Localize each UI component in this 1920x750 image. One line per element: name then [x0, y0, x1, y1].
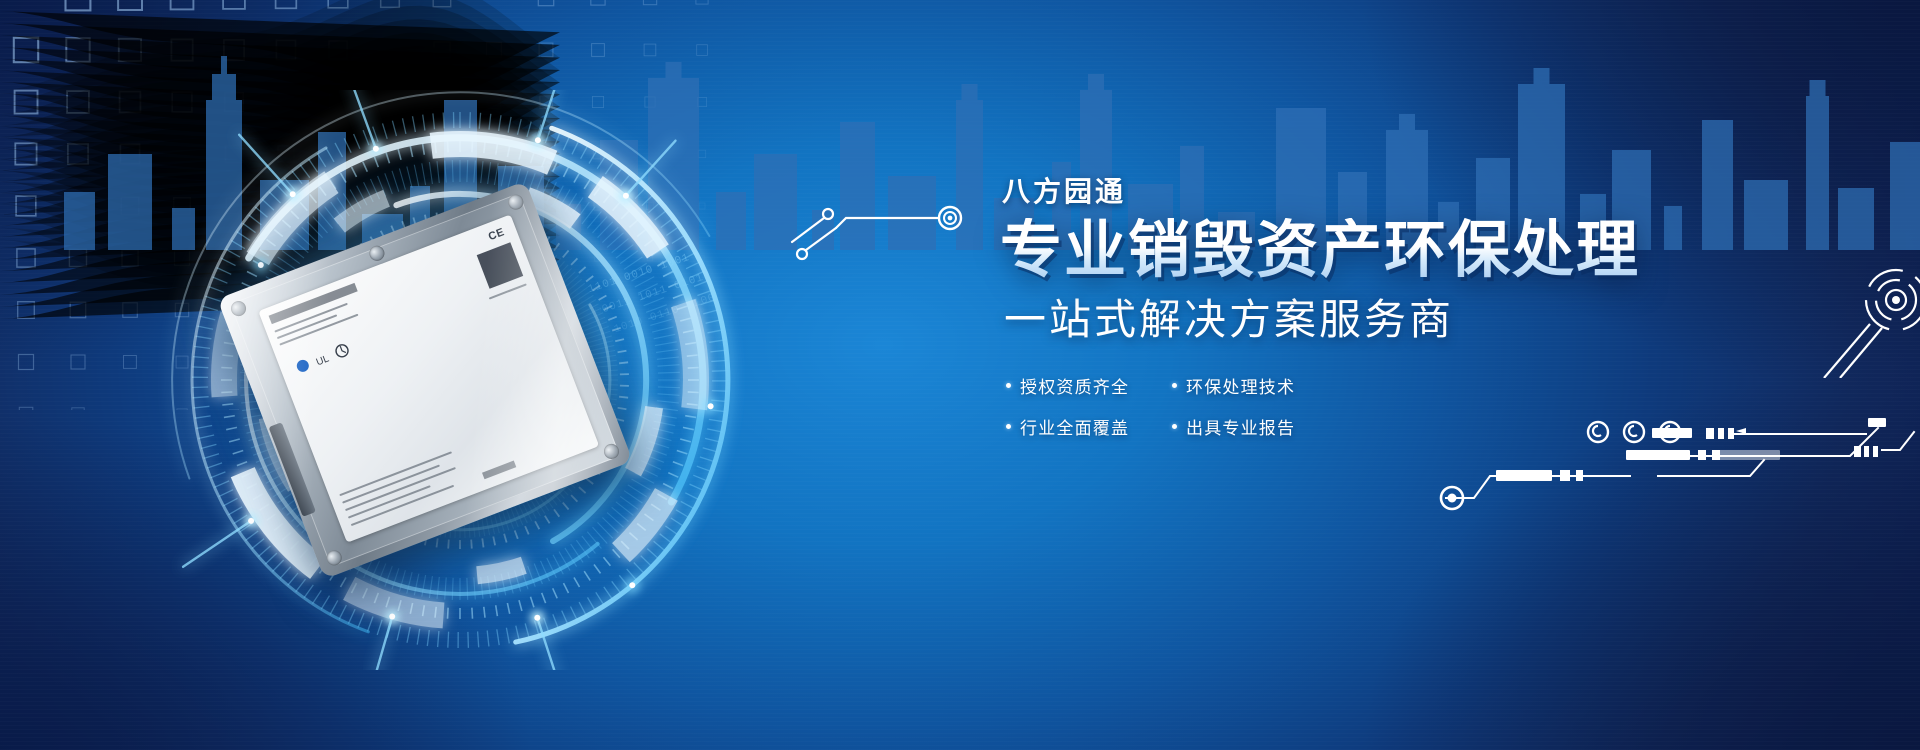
feature-label: 出具专业报告 [1186, 414, 1295, 439]
bullet-dot-icon [1172, 383, 1177, 388]
feature-label: 环保处理技术 [1186, 373, 1295, 398]
promo-banner: 0110 1001 00111001 0110 10100101 1100 01… [0, 0, 1920, 750]
bullet-dot-icon [1006, 424, 1011, 429]
circuit-corner-node [1784, 228, 1920, 378]
svg-text:UL: UL [315, 353, 331, 368]
feature-item: 行业全面覆盖 [1006, 414, 1154, 439]
node-dot-icon [823, 209, 833, 219]
feature-item: 出具专业报告 [1172, 414, 1332, 439]
feature-label: 行业全面覆盖 [1020, 414, 1129, 439]
hero-graphic: CE UL [150, 90, 770, 670]
target-ring-icon [939, 207, 961, 229]
feature-item: 环保处理技术 [1172, 373, 1332, 398]
copy-block: 八方园通 专业销毁资产环保处理 一站式解决方案服务商 授权资质齐全 环保处理技术… [1000, 178, 1760, 439]
feature-item: 授权资质齐全 [1006, 373, 1154, 398]
subheadline: 一站式解决方案服务商 [1004, 297, 1760, 343]
feature-list: 授权资质齐全 环保处理技术 行业全面覆盖 出具专业报告 [1006, 373, 1760, 439]
headline-title: 专业销毁资产环保处理 [1000, 218, 1760, 283]
feature-label: 授权资质齐全 [1020, 373, 1129, 398]
callout-pointer [790, 180, 1010, 270]
brand-name: 八方园通 [1002, 178, 1760, 206]
bullet-dot-icon [1172, 424, 1177, 429]
node-dot-icon [797, 249, 807, 259]
bullet-dot-icon [1006, 383, 1011, 388]
